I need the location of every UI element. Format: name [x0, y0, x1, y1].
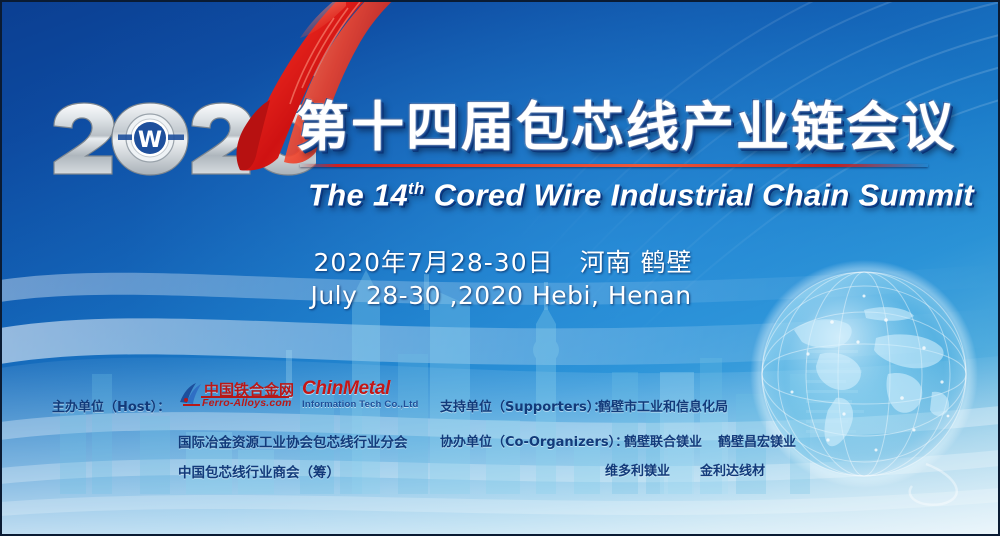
event-date-en: July 28-30 ,2020 Hebi, Henan — [0, 281, 1000, 310]
title-en-suffix: Cored Wire Industrial Chain Summit — [425, 177, 974, 212]
chinmetal-tagline: Information Tech Co.,Ltd — [302, 399, 420, 411]
title-en-ordinal: th — [408, 179, 425, 198]
title-divider-rule — [300, 164, 928, 167]
co-organizer-3: 维多利镁业 — [605, 460, 670, 479]
co-organizers-label: 协办单位（Co-Organizers）： — [440, 431, 628, 450]
page-title-en: The 14th Cored Wire Industrial Chain Sum… — [308, 170, 948, 214]
logo-badge-letter: W — [138, 128, 162, 153]
host-org-2: 中国包芯线行业商会（筹） — [178, 461, 340, 481]
co-organizer-1: 鹤壁联合镁业 — [624, 431, 702, 450]
host-org-1: 国际冶金资源工业协会包芯线行业分会 — [178, 431, 408, 451]
ferro-alloys-logo[interactable]: 中国铁合金网 Ferro-Alloys.com — [178, 379, 290, 413]
event-date-cn: 2020年7月28-30日 河南 鹤壁 — [0, 243, 1000, 279]
page-title-cn: 第十四届包芯线产业链会议 — [296, 96, 946, 162]
title-en-prefix: The 14 — [308, 177, 408, 212]
ferro-alloys-mark-icon — [178, 382, 204, 408]
host-label: 主办单位（Host）： — [52, 396, 170, 415]
supporter-1: 鹤壁市工业和信息化局 — [598, 396, 728, 415]
logo-2020: W — [46, 100, 316, 180]
co-organizer-4: 金利达线材 — [700, 460, 765, 479]
chinmetal-name: ChinMetal — [302, 378, 420, 399]
supporters-label: 支持单位（Supporters）： — [440, 396, 606, 415]
ferro-alloys-name-en: Ferro-Alloys.com — [202, 397, 292, 409]
co-organizer-2: 鹤壁昌宏镁业 — [718, 431, 796, 450]
conference-banner: W — [0, 0, 1000, 536]
chinmetal-logo[interactable]: ChinMetal Information Tech Co.,Ltd — [302, 378, 420, 414]
light-swoosh-1 — [0, 0, 879, 434]
